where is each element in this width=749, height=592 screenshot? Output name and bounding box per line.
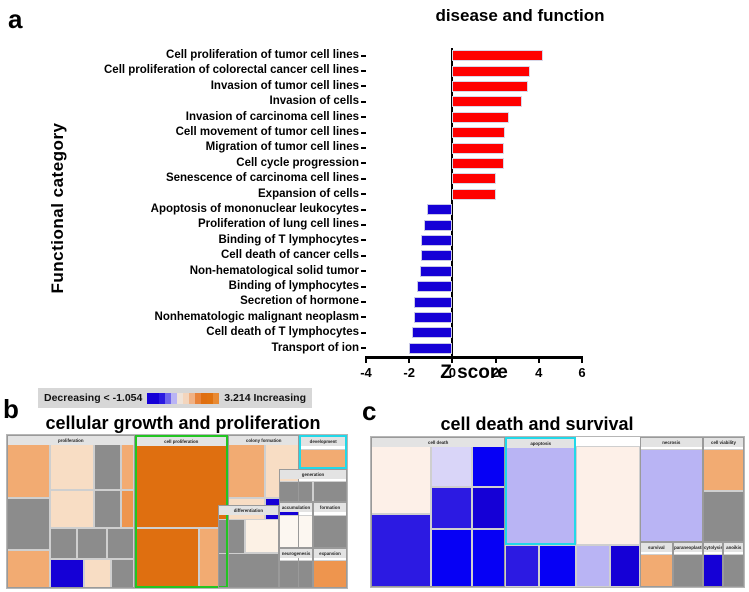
- bar-row: Proliferation of lung cell lines: [366, 217, 582, 232]
- treemap-group-label: expansion: [314, 549, 346, 558]
- bar: [421, 235, 452, 246]
- bar-row: Nonhematologic malignant neoplasm: [366, 310, 582, 325]
- treemap-group[interactable]: neurogenesis: [279, 548, 313, 588]
- treemap-tile: [576, 446, 639, 545]
- y-axis-tick: [361, 55, 366, 57]
- y-axis-tick: [361, 193, 366, 195]
- treemap-group-label: neurogenesis: [280, 549, 312, 558]
- x-tick-label: -2: [403, 365, 415, 380]
- bar: [452, 189, 495, 200]
- treemap-group-label: cell proliferation: [137, 437, 227, 446]
- x-tick: [495, 356, 497, 363]
- y-axis-tick: [361, 239, 366, 241]
- treemap-group-label: paraneoplasti...: [674, 543, 702, 552]
- bar: [452, 127, 505, 138]
- y-axis-tick: [361, 347, 366, 349]
- legend-swatch: [213, 393, 219, 404]
- bar: [417, 281, 452, 292]
- y-axis-title: Functional category: [48, 98, 68, 318]
- bar-row: Secretion of hormone: [366, 294, 582, 309]
- bar: [452, 81, 528, 92]
- treemap-group-label: survival: [641, 543, 673, 552]
- treemap-group[interactable]: expansion: [313, 548, 347, 588]
- bar-row: Migration of tumor cell lines: [366, 140, 582, 155]
- treemap-cellular-growth: proliferationcell proliferationcolony fo…: [6, 434, 348, 589]
- treemap-group-label: cytolysis: [704, 543, 723, 552]
- panel-label-b: b: [3, 396, 19, 422]
- category-label: Cell cycle progression: [236, 156, 359, 171]
- category-label: Cell death of cancer cells: [221, 248, 359, 263]
- bar-row: Transport of ion: [366, 341, 582, 356]
- treemap-group-label: differentiation: [219, 506, 278, 515]
- bar-row: Cell death of T lymphocytes: [366, 325, 582, 340]
- treemap-group[interactable]: necrosis: [640, 437, 703, 542]
- y-axis-tick: [361, 116, 366, 118]
- y-axis-tick: [361, 70, 366, 72]
- y-axis-tick: [361, 316, 366, 318]
- treemap-group[interactable]: anoikis: [723, 542, 744, 587]
- treemap-group[interactable]: cell death: [371, 437, 505, 587]
- category-label: Expansion of cells: [258, 187, 359, 202]
- bar: [452, 173, 495, 184]
- treemap-group-label: cell viability: [704, 438, 743, 447]
- bar: [452, 66, 530, 77]
- treemap-group-label: cell death: [372, 438, 504, 447]
- category-label: Apoptosis of mononuclear leukocytes: [151, 202, 359, 217]
- bar-row: Invasion of tumor cell lines: [366, 79, 582, 94]
- y-axis-tick: [361, 132, 366, 134]
- treemap-group-label: necrosis: [641, 438, 702, 447]
- y-axis-tick: [361, 162, 366, 164]
- bar: [421, 250, 452, 261]
- x-tick: [408, 356, 410, 363]
- y-axis-tick: [361, 147, 366, 149]
- category-label: Binding of lymphocytes: [229, 279, 359, 294]
- y-axis-tick: [361, 85, 366, 87]
- category-label: Nonhematologic malignant neoplasm: [155, 310, 359, 325]
- treemap-b-title: cellular growth and proliferation: [18, 413, 348, 434]
- treemap-group-label: anoikis: [724, 543, 743, 552]
- category-label: Migration of tumor cell lines: [206, 140, 359, 155]
- category-label: Cell proliferation of colorectal cancer …: [104, 63, 359, 78]
- category-label: Invasion of cells: [270, 94, 359, 109]
- legend-decreasing-label: Decreasing < -1.054: [44, 392, 142, 404]
- bar: [409, 343, 452, 354]
- x-tick: [365, 356, 367, 363]
- bar: [452, 50, 542, 61]
- legend-increasing-label: 3.214 Increasing: [224, 392, 306, 404]
- bar: [452, 112, 508, 123]
- y-axis-tick: [361, 209, 366, 211]
- bar-row: Cell proliferation of colorectal cancer …: [366, 63, 582, 78]
- bar: [414, 297, 453, 308]
- x-tick-label: 0: [449, 365, 456, 380]
- bar-row: Cell proliferation of tumor cell lines: [366, 48, 582, 63]
- treemap-tile: [505, 545, 539, 587]
- x-tick: [451, 356, 453, 363]
- category-label: Secretion of hormone: [240, 294, 359, 309]
- color-scale-legend: Decreasing < -1.054 3.214 Increasing: [38, 388, 312, 408]
- category-label: Cell movement of tumor cell lines: [176, 125, 359, 140]
- treemap-group[interactable]: generation: [279, 469, 347, 503]
- bar: [452, 143, 504, 154]
- bar-row: Senescence of carcinoma cell lines: [366, 171, 582, 186]
- x-tick: [581, 356, 583, 363]
- treemap-group[interactable]: cell proliferation: [135, 435, 229, 588]
- y-axis-tick: [361, 332, 366, 334]
- x-tick-label: 2: [492, 365, 499, 380]
- y-axis-tick: [361, 270, 366, 272]
- bar: [420, 266, 452, 277]
- y-axis-tick: [361, 286, 366, 288]
- treemap-group-label: development: [301, 437, 345, 446]
- bar-row: Apoptosis of mononuclear leukocytes: [366, 202, 582, 217]
- x-tick-label: 4: [535, 365, 542, 380]
- y-axis-tick: [361, 301, 366, 303]
- bar: [414, 312, 453, 323]
- y-axis-tick: [361, 101, 366, 103]
- x-tick-label: 6: [578, 365, 585, 380]
- treemap-cell-death: cell deathapoptosisnecrosiscell viabilit…: [370, 436, 745, 588]
- treemap-group[interactable]: differentiation: [218, 505, 279, 588]
- category-label: Senescence of carcinoma cell lines: [166, 171, 359, 186]
- treemap-group[interactable]: proliferation: [7, 435, 135, 588]
- bar: [424, 220, 453, 231]
- category-label: Cell death of T lymphocytes: [206, 325, 359, 340]
- legend-gradient: [147, 393, 219, 404]
- treemap-group-label: apoptosis: [507, 439, 574, 448]
- treemap-group[interactable]: survival: [640, 542, 674, 587]
- bar-row: Cell cycle progression: [366, 156, 582, 171]
- category-label: Invasion of tumor cell lines: [211, 79, 359, 94]
- bar-row: Cell death of cancer cells: [366, 248, 582, 263]
- bar-row: Invasion of cells: [366, 94, 582, 109]
- treemap-tile: [539, 545, 576, 587]
- treemap-group[interactable]: formation: [313, 502, 347, 548]
- chart-title: disease and function: [360, 6, 680, 26]
- treemap-group[interactable]: apoptosis: [505, 437, 576, 545]
- bar-row: Cell movement of tumor cell lines: [366, 125, 582, 140]
- bar: [427, 204, 452, 215]
- treemap-group-label: generation: [280, 470, 346, 479]
- bar-row: Invasion of carcinoma cell lines: [366, 110, 582, 125]
- y-axis-tick: [361, 255, 366, 257]
- bar-row: Expansion of cells: [366, 187, 582, 202]
- treemap-group[interactable]: cytolysis: [703, 542, 724, 587]
- treemap-group-label: proliferation: [8, 436, 134, 445]
- category-label: Binding of T lymphocytes: [218, 233, 359, 248]
- category-label: Transport of ion: [271, 341, 359, 356]
- bar: [452, 158, 504, 169]
- bar: [412, 327, 452, 338]
- bar: [452, 96, 521, 107]
- category-label: Proliferation of lung cell lines: [198, 217, 359, 232]
- treemap-tile: [576, 545, 610, 587]
- treemap-group-label: colony formation: [229, 436, 298, 445]
- x-tick: [538, 356, 540, 363]
- treemap-group[interactable]: accumulation: [279, 502, 313, 548]
- x-axis-line: [366, 356, 582, 359]
- category-label: Non-hematological solid tumor: [190, 264, 359, 279]
- treemap-tile: [610, 545, 640, 587]
- plot-area: Cell proliferation of tumor cell linesCe…: [366, 48, 582, 356]
- treemap-group[interactable]: development: [299, 435, 347, 469]
- y-axis-tick: [361, 178, 366, 180]
- x-tick-label: -4: [360, 365, 372, 380]
- bar-row: Binding of lymphocytes: [366, 279, 582, 294]
- treemap-group-label: formation: [314, 503, 346, 512]
- bar-row: Binding of T lymphocytes: [366, 233, 582, 248]
- bar-row: Non-hematological solid tumor: [366, 264, 582, 279]
- panel-a-bar-chart: disease and function Functional category…: [0, 0, 749, 392]
- treemap-group[interactable]: paraneoplasti...: [673, 542, 703, 587]
- treemap-group[interactable]: cell viability: [703, 437, 744, 542]
- x-axis-title: Z score: [366, 362, 582, 384]
- treemap-c-title: cell death and survival: [372, 414, 702, 435]
- treemap-group-label: accumulation: [280, 503, 312, 512]
- category-label: Invasion of carcinoma cell lines: [186, 110, 359, 125]
- category-label: Cell proliferation of tumor cell lines: [166, 48, 359, 63]
- y-axis-tick: [361, 224, 366, 226]
